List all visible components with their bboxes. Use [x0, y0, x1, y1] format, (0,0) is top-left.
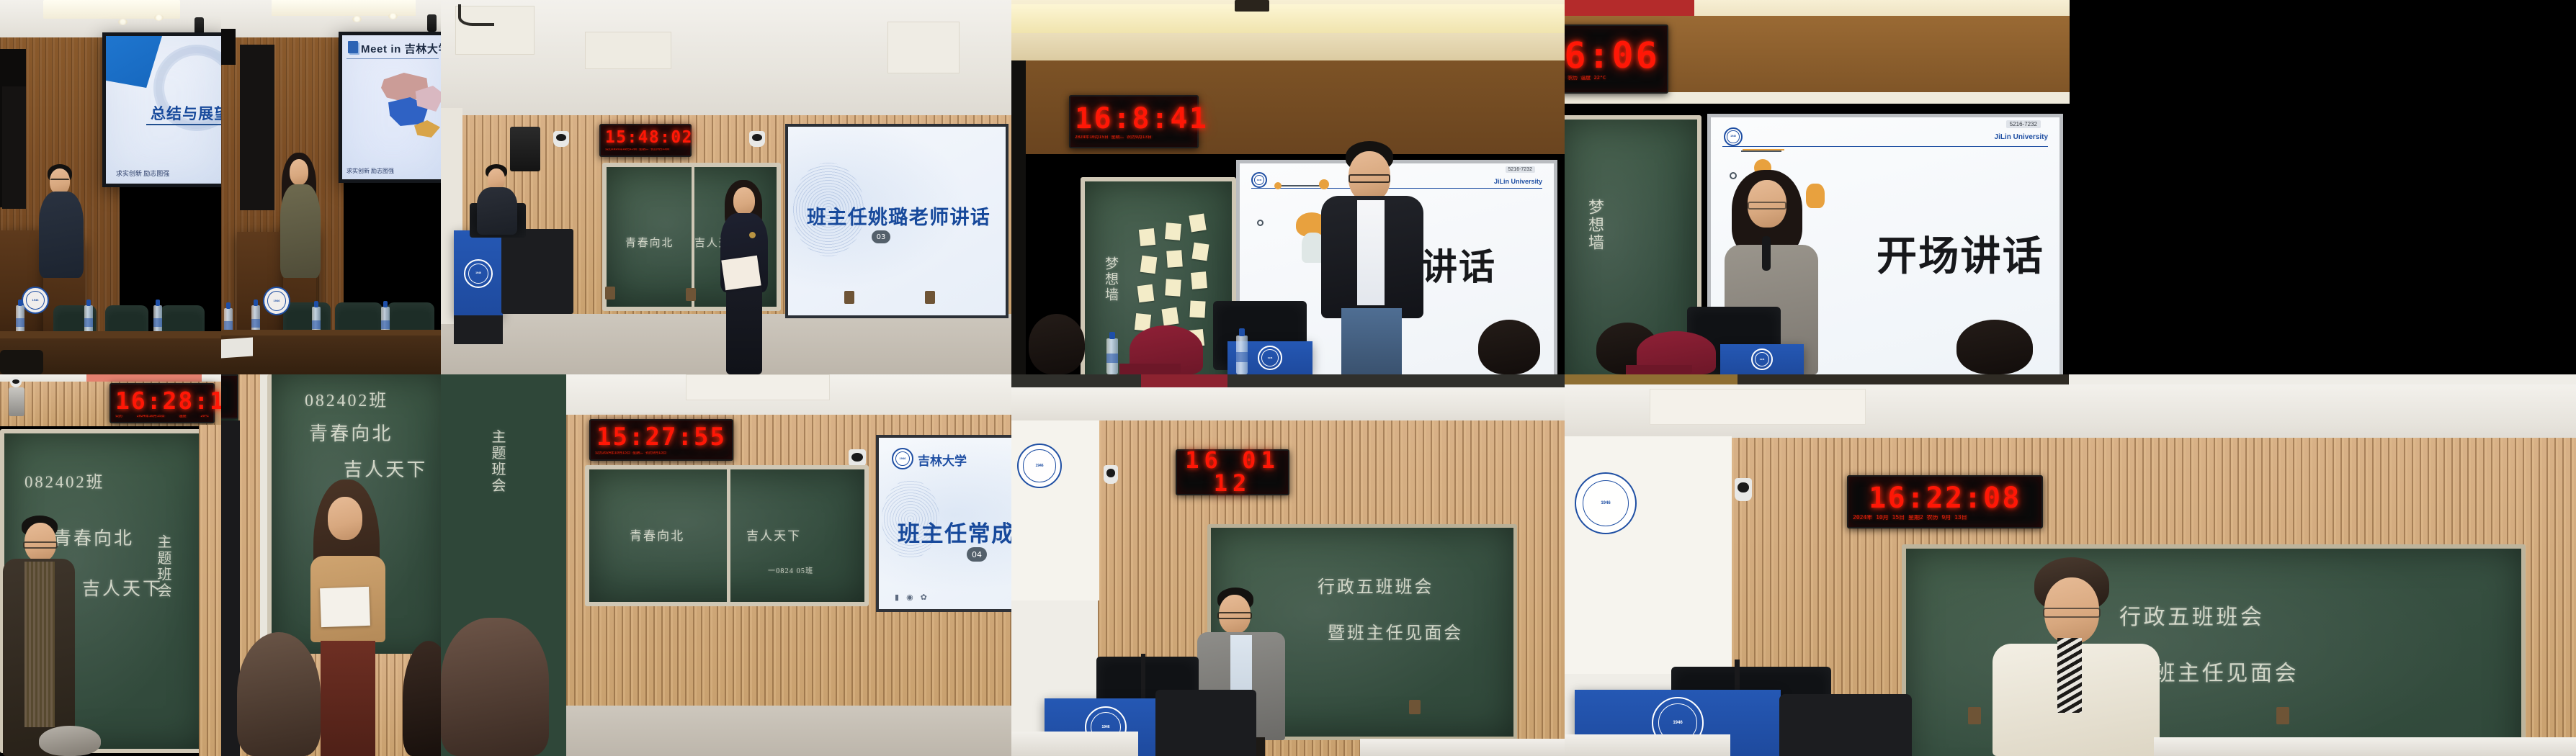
photo-panel-1[interactable]: 总结与展望 求实创新 励志图强 1946 [0, 0, 221, 374]
clock-temp-value: 20℃ [200, 415, 209, 418]
chalkboard-line-1: 梦想墙 [1583, 199, 1606, 252]
speaker-person [713, 180, 777, 374]
device-tag: 5216-7232 [2006, 120, 2041, 128]
slide-title: 班主任姚璐老师讲话 [807, 202, 990, 230]
speaker-person [1312, 141, 1434, 374]
slide-footer: 求实创新 励志图强 [346, 167, 394, 175]
led-clock: 16:06 15日 星期5 农历 温度 22°C [1565, 24, 1668, 94]
chalkboard-line-2: 吉人天下 [746, 526, 801, 544]
clock-date: 2024年 10月 15日 星期2 农历 9月 13日 [1853, 515, 2037, 521]
slide-logo-seal: 1946 [892, 448, 913, 469]
scene-classroom-changcheng: 主题班会 15:27:55 公历2024年10月15日 星期二 农历9月13日 … [441, 374, 1011, 756]
podium-seal: 1946 [464, 259, 493, 288]
clock-date: 公历 2024年10月15日 温度 20℃ [115, 415, 209, 418]
scene-classroom-dreamwall: 16:8:41 2024年10月15日 星期二 农历9月13日 梦想墙 [1011, 0, 1565, 374]
clock-time: 15:27:55 [595, 425, 728, 449]
photo-panel-8[interactable]: 主题班会 15:27:55 公历2024年10月15日 星期二 农历9月13日 … [441, 374, 1011, 756]
podium-seal: 1946 [263, 287, 290, 315]
scene-classroom-yaolu: 15:48:02 公历2024年10月15日 星期二 农历9月13日 青春向北 … [441, 0, 1011, 374]
chalkboard-line-2: 青春向北 [309, 419, 393, 446]
clock-date: 公历2024年10月15日 星期二 农历9月13日 [605, 148, 686, 152]
chalkboard-line-3: 一0824 05班 [768, 564, 813, 575]
photo-panel-7[interactable]: 082402班 青春向北 吉人天下 [221, 374, 441, 756]
led-clock: 16 01 12 2024年 10月 15日 星期2 农历 9月 13日 [1176, 449, 1289, 495]
speaker-person [277, 153, 322, 282]
photo-panel-10[interactable]: 1946 16:22:08 2024年 10月 15日 星期2 农历 9月 13… [1565, 374, 2576, 756]
leaf-icon: ✿ [921, 593, 927, 602]
scene-classroom-student-reading: 082402班 青春向北 吉人天下 [221, 374, 441, 756]
clock-date: 15日 星期5 农历 温度 22°C [1565, 76, 1663, 81]
clock-time: 15:48:02 [605, 130, 686, 146]
slide-footer: 求实创新 励志图强 [116, 168, 169, 178]
speaker-person [3, 516, 78, 756]
clock-date: 2024年10月15日 星期二 农历9月13日 [1075, 135, 1193, 140]
clock-time: 16:8:41 [1075, 104, 1193, 133]
led-clock: 16:22:08 2024年 10月 15日 星期2 农历 9月 13日 [1847, 475, 2043, 528]
clock-time: 16 01 12 [1181, 449, 1284, 495]
projected-seal: 1946 [1575, 472, 1637, 534]
device-tag: 5216-7232 [1506, 166, 1535, 173]
globe-icon: ◉ [906, 593, 913, 602]
chalkboard-line-3: 吉人天下 [82, 575, 163, 600]
photo-panel-9[interactable]: 1946 16 01 12 2024年 10月 15日 星期2 农历 9月 13… [1011, 374, 1565, 756]
projected-seal: 1946 [1017, 444, 1062, 488]
chalkboard-line-1: 082402班 [24, 468, 104, 492]
slide-logo-seal: 1946 [1724, 127, 1743, 146]
clock-date-value: 2024年10月15日 [137, 415, 165, 418]
chalkboard-line-4: 主题班会 [153, 534, 174, 599]
photo-collage: 总结与展望 求实创新 励志图强 1946 [0, 0, 2576, 756]
slide-badge: 04 [967, 547, 987, 562]
scene-classroom-xingzheng5-female: 1946 16:22:08 2024年 10月 15日 星期2 农历 9月 13… [1565, 374, 2576, 756]
slide-logo-seal: 1946 [1251, 172, 1267, 188]
podium-person [473, 164, 523, 236]
chalkboard-line-1: 青春向北 [630, 526, 684, 544]
photo-panel-3[interactable]: 15:48:02 公历2024年10月15日 星期二 农历9月13日 青春向北 … [441, 0, 1011, 374]
red-cap-icon [1130, 325, 1203, 374]
projection-screen: 总结与展望 求实创新 励志图强 [102, 32, 221, 187]
podium-seal: 1946 [1751, 348, 1773, 370]
microphone-icon [1762, 236, 1771, 271]
slide-title: Meet in 吉林大学！！！ [361, 41, 441, 56]
scene-classroom-082402-teacher: 16:28:19 公历 2024年10月15日 温度 20℃ 082402班 青… [0, 374, 221, 756]
scene-auditorium-meetin: Meet in 吉林大学！！！ 求实创新 励志图强 1 [221, 0, 441, 374]
slide-header-en: JiLin University [1995, 133, 2048, 141]
clock-time: 16:28:19 [115, 389, 209, 413]
slide-badge: 03 [872, 230, 890, 243]
slide-title: 开场讲话 [1877, 224, 2044, 282]
slide-title: 班主任常成老师讲话 [898, 516, 1011, 548]
scene-auditorium-summary: 总结与展望 求实创新 励志图强 1946 [0, 0, 221, 374]
photo-panel-4[interactable]: 16:8:41 2024年10月15日 星期二 农历9月13日 梦想墙 [1011, 0, 1565, 374]
battery-icon: ▮ [895, 593, 899, 602]
speaker-person [1987, 557, 2164, 756]
led-clock: 15:27:55 公历2024年10月15日 星期二 农历9月13日 [589, 419, 733, 461]
clock-date-label: 公历 [115, 415, 122, 418]
led-clock: 16:28:19 公历 2024年10月15日 温度 20℃ [109, 383, 215, 423]
slide-title: 总结与展望 [151, 102, 221, 124]
photo-panel-2[interactable]: Meet in 吉林大学！！！ 求实创新 励志图强 1 [221, 0, 441, 374]
projection-screen: 班主任姚璐老师讲话 03 [785, 124, 1009, 318]
chalkboard-line-1: 梦想墙 [1101, 256, 1120, 302]
photo-panel-6[interactable]: 16:28:19 公历 2024年10月15日 温度 20℃ 082402班 青… [0, 374, 221, 756]
podium-seal: 1946 [1258, 346, 1282, 370]
chalkboard-line-1: 青春向北 [625, 235, 674, 250]
projection-screen: 1946 吉林大学 ▢ 班主任常成老师讲话 04 ▮ ◉ ✿ [876, 435, 1011, 612]
chalkboard-line-3: 吉人天下 [344, 455, 427, 482]
chalkboard: 青春向北 吉人天下 一0824 05班 [585, 465, 869, 606]
podium-seal: 1946 [22, 287, 49, 314]
led-clock: 16:8:41 2024年10月15日 星期二 农历9月13日 [1069, 95, 1199, 148]
led-clock-partial [221, 374, 238, 419]
scene-classroom-xingzheng5-male: 1946 16 01 12 2024年 10月 15日 星期2 农历 9月 13… [1011, 374, 1565, 756]
led-clock: 15:48:02 公历2024年10月15日 星期二 农历9月13日 [599, 124, 692, 157]
chalkboard-line-2: 暨班主任见面会 [1328, 618, 1463, 644]
clock-date: 公历2024年10月15日 星期二 农历9月13日 [595, 451, 728, 455]
projection-screen: Meet in 吉林大学！！！ 求实创新 励志图强 [339, 32, 441, 183]
clock-time: 16:06 [1565, 37, 1663, 73]
clock-temp-label: 温度 [179, 415, 187, 418]
chalkboard-line-1: 082402班 [305, 386, 388, 411]
red-cap-icon [1637, 331, 1716, 374]
clock-time: 16:22:08 [1853, 484, 2037, 513]
seal-year: 1946 [274, 299, 280, 302]
podium: 1946 [454, 230, 503, 317]
slide-header-en: JiLin University [1494, 178, 1542, 185]
chalkboard-line-1: 行政五班班会 [1318, 572, 1434, 598]
speaker-person [37, 164, 88, 287]
scene-classroom-opening: 16:06 15日 星期5 农历 温度 22°C 梦想墙 5216-7232 J… [1565, 0, 2070, 374]
slide-logo-cn: 吉林大学 [918, 451, 967, 469]
seal-year: 1946 [32, 298, 39, 302]
chalkboard-sliver-text: 主题班会 [487, 429, 508, 494]
photo-panel-5[interactable]: 16:06 15日 星期5 农历 温度 22°C 梦想墙 5216-7232 J… [1565, 0, 2070, 374]
